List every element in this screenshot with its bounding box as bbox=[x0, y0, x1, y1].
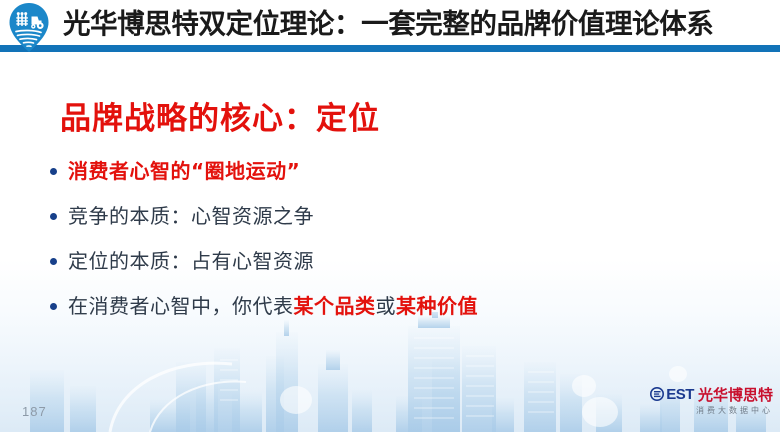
bullet-dot-icon bbox=[50, 213, 57, 220]
brand-chinese-name: 光华博思特 bbox=[698, 384, 773, 405]
bullet-dot-icon bbox=[50, 303, 57, 310]
list-item-label: 竞争的本质：心智资源之争 bbox=[68, 204, 314, 228]
header-underline-rule bbox=[0, 45, 780, 52]
list-item: 消费者心智的“圈地运动” bbox=[48, 158, 748, 184]
list-item-label: 定位的本质：占有心智资源 bbox=[68, 249, 314, 273]
slide-header: 光华博思特双定位理论：一套完整的品牌价值理论体系 bbox=[0, 0, 780, 52]
brand-logo-row: EST 光华博思特 bbox=[650, 384, 773, 404]
bullet-dot-icon bbox=[50, 168, 57, 175]
section-heading: 品牌战略的核心：定位 bbox=[60, 93, 380, 138]
brand-tagline: 消费大数据中心 bbox=[650, 405, 773, 416]
bullet-dot-icon bbox=[50, 258, 57, 265]
list-item-label: 消费者心智的“圈地运动” bbox=[68, 159, 300, 183]
page-number: 187 bbox=[22, 404, 47, 419]
list-item: 定位的本质：占有心智资源 bbox=[48, 248, 748, 274]
brand-logo: EST 光华博思特 消费大数据中心 bbox=[650, 384, 773, 418]
bullet-list: 消费者心智的“圈地运动” 竞争的本质：心智资源之争 定位的本质：占有心智资源 在… bbox=[48, 158, 748, 338]
best-circle-logo-icon bbox=[650, 387, 664, 401]
location-pin-farm-icon bbox=[7, 2, 51, 54]
brand-latin-name: EST bbox=[666, 386, 694, 403]
page-title: 光华博思特双定位理论：一套完整的品牌价值理论体系 bbox=[63, 4, 775, 44]
list-item: 竞争的本质：心智资源之争 bbox=[48, 203, 748, 229]
slide-canvas: 光华博思特双定位理论：一套完整的品牌价值理论体系 品牌战略的核心：定位 消费者心… bbox=[0, 0, 780, 432]
